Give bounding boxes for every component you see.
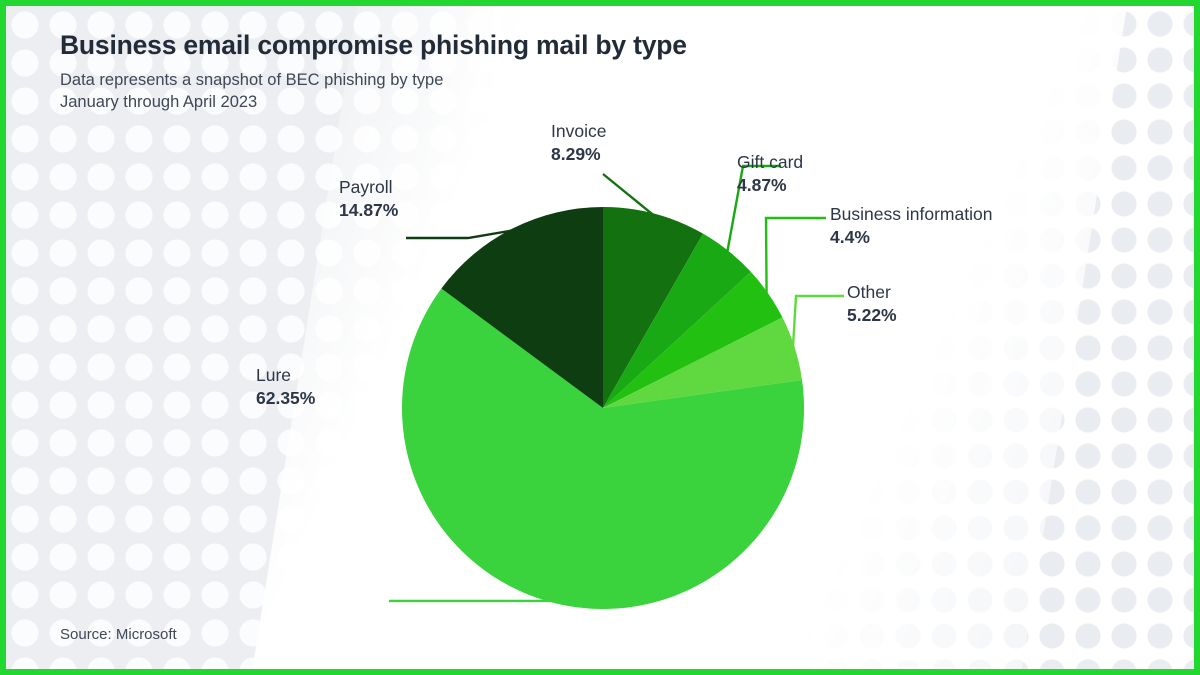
source-note: Source: Microsoft [60,626,177,643]
pie-label-other-name: Other [847,282,891,302]
leader-line-business-information [766,218,826,295]
pie-label-lure: Lure 62.35% [256,364,315,410]
pie-label-other: Other 5.22% [847,281,897,327]
pie-label-business-information-name: Business information [830,204,992,224]
pie-label-other-value: 5.22% [847,304,897,327]
pie-label-giftcard-value: 4.87% [737,174,803,197]
pie-label-invoice-value: 8.29% [551,143,606,166]
infographic-frame: Business email compromise phishing mail … [0,0,1200,675]
pie-label-giftcard-name: Gift card [737,152,803,172]
pie-label-business-information-value: 4.4% [830,226,992,249]
pie-label-lure-value: 62.35% [256,387,315,410]
pie-slice-group [402,207,804,609]
pie-label-payroll: Payroll 14.87% [339,176,398,222]
pie-label-business-information: Business information 4.4% [830,203,992,249]
pie-chart [6,6,1194,669]
pie-label-payroll-name: Payroll [339,177,393,197]
pie-label-lure-name: Lure [256,365,291,385]
pie-label-invoice: Invoice 8.29% [551,120,606,166]
leader-line-payroll [406,230,513,238]
pie-label-payroll-value: 14.87% [339,199,398,222]
pie-label-giftcard: Gift card 4.87% [737,151,803,197]
leader-line-other [793,296,844,349]
pie-label-invoice-name: Invoice [551,121,606,141]
